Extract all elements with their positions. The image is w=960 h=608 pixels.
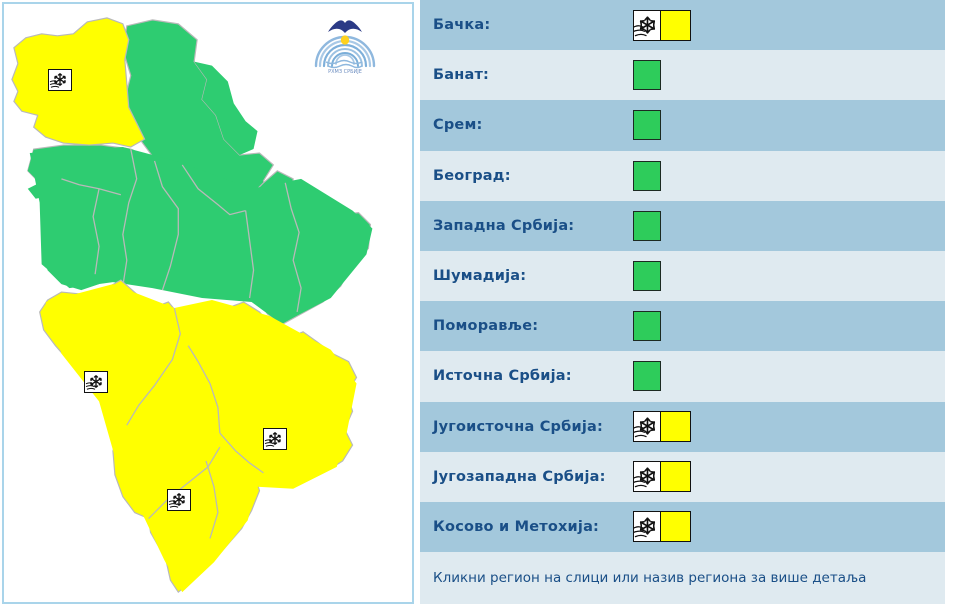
- warning-level-color-green: [633, 361, 661, 391]
- logo-caption: РХМЗ СРБИЈЕ: [328, 69, 362, 75]
- rhmz-serbia-logo: РХМЗ СРБИЈЕ: [310, 10, 380, 76]
- snow-warning-icon: [634, 11, 661, 40]
- warning-level-color-green: [633, 60, 661, 90]
- table-row[interactable]: Шумадија:: [420, 251, 945, 301]
- warning-badge-yellow: [633, 511, 691, 542]
- warning-level-color-yellow: [661, 412, 690, 441]
- logo-sun: [341, 35, 349, 44]
- region-level-badges: [633, 211, 661, 241]
- table-footer-note: Кликни регион на слици или назив региона…: [420, 570, 866, 586]
- map-warning-icon-zapadna-srbija[interactable]: [84, 371, 108, 393]
- warning-level-color-yellow: [661, 512, 690, 541]
- table-row[interactable]: Банат:: [420, 50, 945, 100]
- map-region-south-fill[interactable]: [46, 284, 357, 592]
- snow-warning-icon: [634, 412, 661, 441]
- warning-badge-yellow: [633, 411, 691, 442]
- region-warning-table: Бачка:: [420, 0, 945, 608]
- region-level-badges: [633, 161, 661, 191]
- region-level-badges: [633, 261, 661, 291]
- table-row[interactable]: Београд:: [420, 151, 945, 201]
- region-name-label[interactable]: Југозападна Србија:: [420, 469, 630, 485]
- map-warning-icon-backa[interactable]: [48, 69, 72, 91]
- region-name-label[interactable]: Шумадија:: [420, 268, 630, 284]
- table-row[interactable]: Југоисточна Србија:: [420, 402, 945, 452]
- map-warning-icon-kosovo-i-metohija[interactable]: [167, 489, 191, 511]
- warning-level-color-green: [633, 161, 661, 191]
- region-level-badges: [633, 110, 661, 140]
- region-level-badges: [633, 10, 691, 41]
- warning-badge-yellow: [633, 461, 691, 492]
- table-row[interactable]: Југозападна Србија:: [420, 452, 945, 502]
- region-name-label[interactable]: Банат:: [420, 67, 630, 83]
- warning-level-color-green: [633, 110, 661, 140]
- serbia-map-svg[interactable]: [4, 4, 412, 602]
- region-level-badges: [633, 411, 691, 442]
- warning-level-color-green: [633, 211, 661, 241]
- map-warning-icon-jugoistocna-srbija[interactable]: [263, 428, 287, 450]
- snow-warning-icon: [634, 462, 661, 491]
- region-level-badges: [633, 511, 691, 542]
- table-footer-note-row: Кликни регион на слици или назив региона…: [420, 552, 945, 604]
- table-row[interactable]: Косово и Метохија:: [420, 502, 945, 552]
- region-name-label[interactable]: Срем:: [420, 117, 630, 133]
- region-name-label[interactable]: Бачка:: [420, 17, 630, 33]
- snow-warning-icon: [634, 512, 661, 541]
- logo-svg: РХМЗ СРБИЈЕ: [310, 10, 380, 76]
- region-level-badges: [633, 361, 661, 391]
- map-panel: РХМЗ СРБИЈЕ: [2, 2, 414, 604]
- meteoalarm-page: РХМЗ СРБИЈЕ: [0, 0, 960, 608]
- table-row[interactable]: Источна Србија:: [420, 351, 945, 401]
- map-region-backa[interactable]: [12, 18, 145, 147]
- table-row[interactable]: Срем:: [420, 100, 945, 150]
- warning-level-color-green: [633, 261, 661, 291]
- warning-level-color-yellow: [661, 462, 690, 491]
- region-name-label[interactable]: Југоисточна Србија:: [420, 419, 630, 435]
- region-level-badges: [633, 60, 661, 90]
- table-row[interactable]: Бачка:: [420, 0, 945, 50]
- region-level-badges: [633, 461, 691, 492]
- warning-level-color-yellow: [661, 11, 690, 40]
- warning-badge-yellow: [633, 10, 691, 41]
- region-name-label[interactable]: Поморавље:: [420, 318, 630, 334]
- warning-level-color-green: [633, 311, 661, 341]
- table-row[interactable]: Поморавље:: [420, 301, 945, 351]
- table-row[interactable]: Западна Србија:: [420, 201, 945, 251]
- region-name-label[interactable]: Источна Србија:: [420, 368, 630, 384]
- region-name-label[interactable]: Косово и Метохија:: [420, 519, 630, 535]
- region-name-label[interactable]: Београд:: [420, 168, 630, 184]
- region-name-label[interactable]: Западна Србија:: [420, 218, 630, 234]
- region-level-badges: [633, 311, 661, 341]
